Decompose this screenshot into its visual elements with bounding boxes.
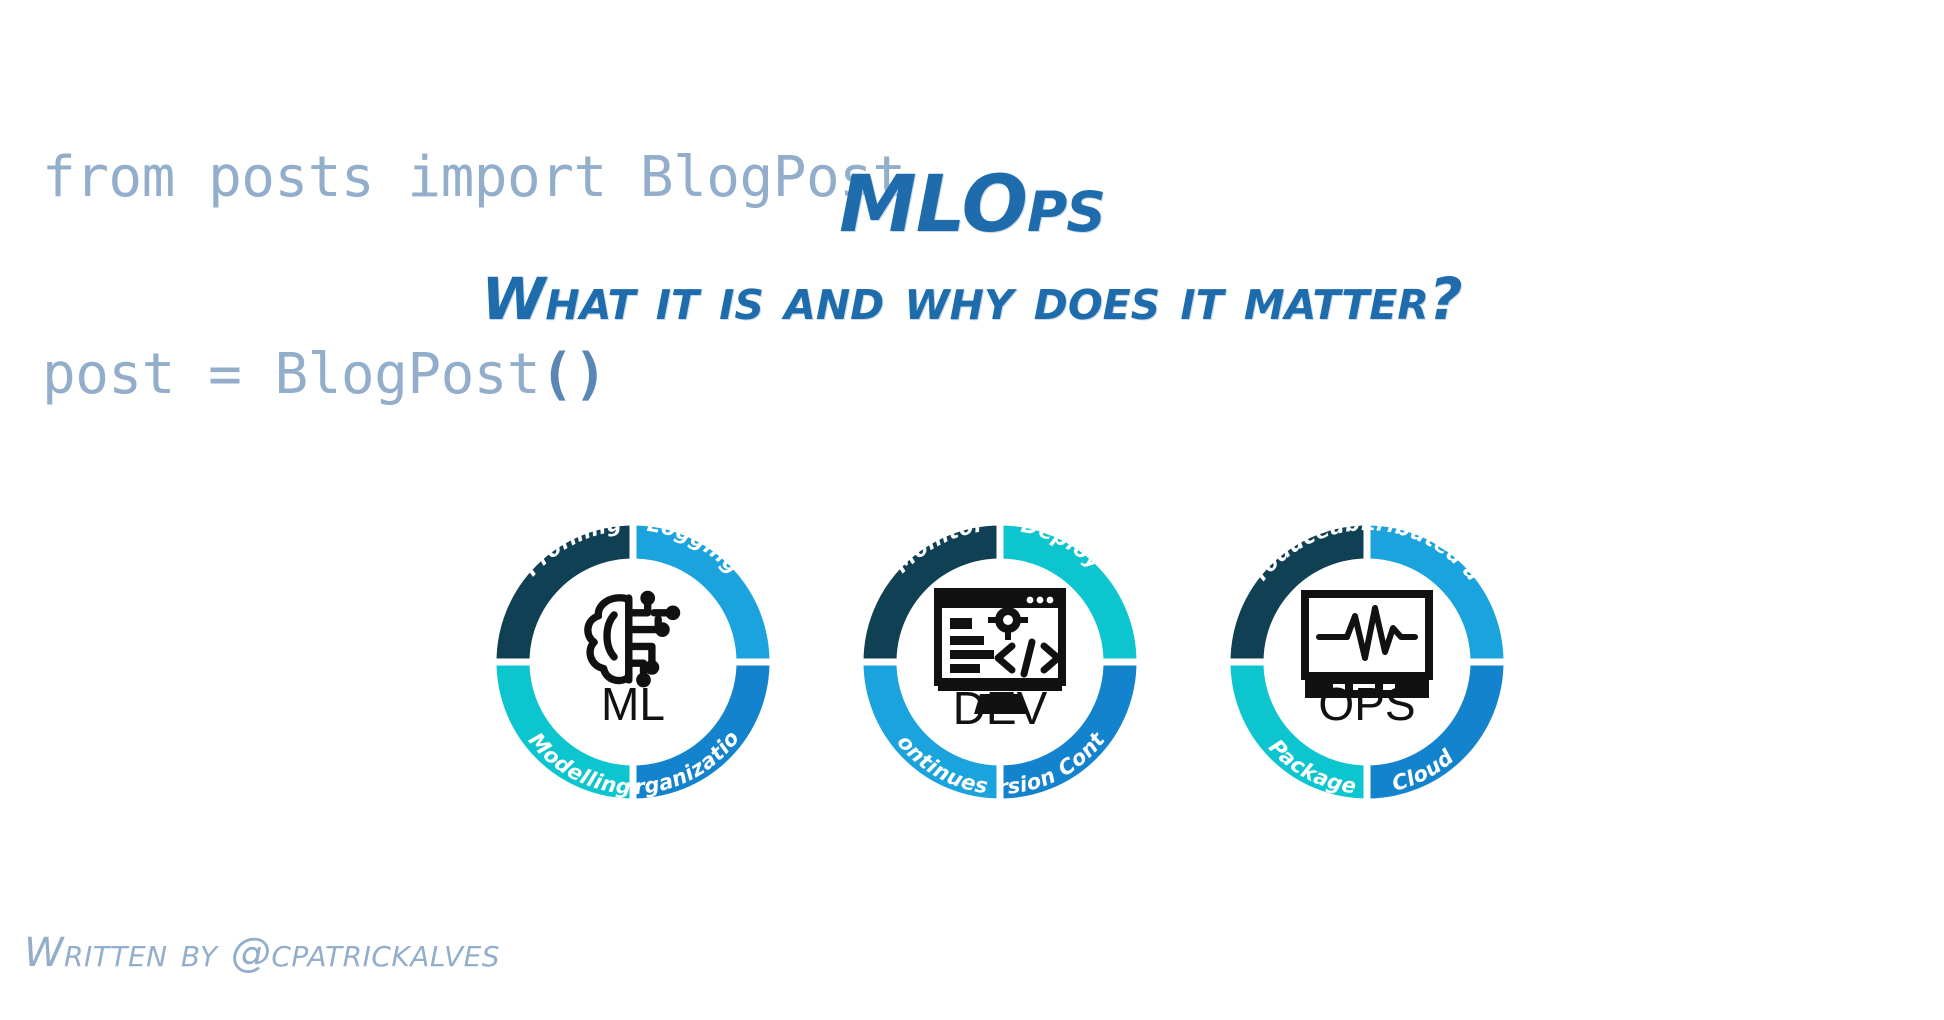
page-subtitle: What it is and why does it matter?: [0, 270, 1944, 328]
author-credit: Written by @cpatrickalves: [24, 930, 500, 976]
code-line-2-text: post = BlogPost: [42, 342, 540, 407]
hub-label-dev: DEV: [953, 682, 1048, 734]
page-title: MLOps: [0, 166, 1944, 244]
code-line-2-parens: (): [540, 342, 606, 407]
mlops-lifecycle-diagram: Profiling Logging Modelling Organization: [455, 452, 1545, 872]
code-line-2: post = BlogPost(): [42, 342, 906, 408]
hub-label-ops: OPS: [1318, 678, 1415, 730]
hub-label-ml: ML: [601, 678, 665, 730]
ring-ml: Profiling Logging Modelling Organization: [446, 433, 773, 802]
title-block: MLOps What it is and why does it matter?: [0, 166, 1944, 328]
